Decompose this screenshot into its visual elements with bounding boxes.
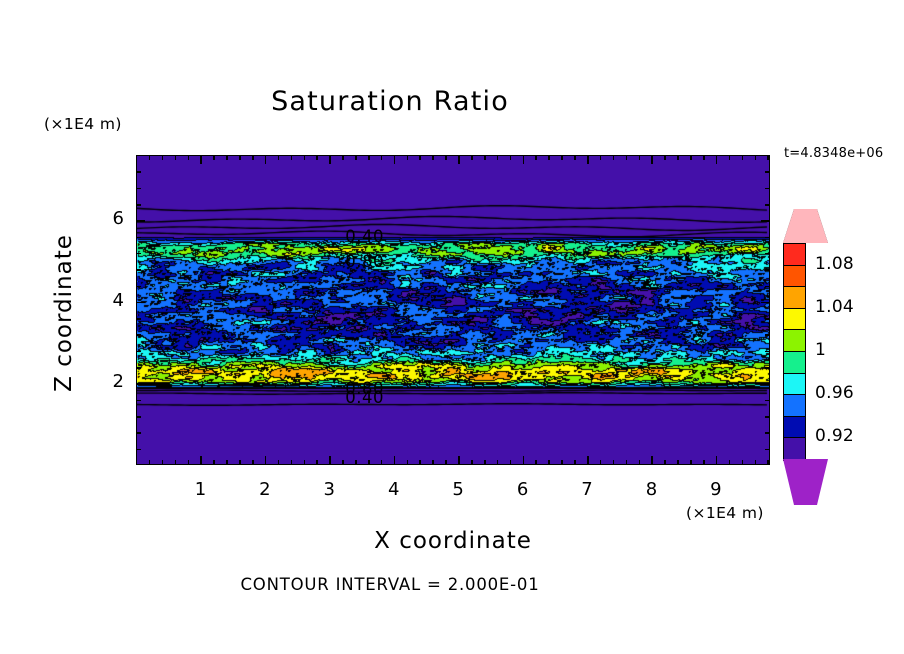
x-minor-tick (548, 460, 550, 465)
x-major-tick (458, 456, 460, 465)
x-minor-tick-top (316, 155, 318, 160)
y-minor-tick-right (765, 204, 770, 206)
x-minor-tick-top (626, 155, 628, 160)
x-minor-tick (664, 460, 666, 465)
colorbar-band[interactable] (783, 265, 806, 288)
x-minor-tick-top (278, 155, 280, 160)
x-minor-tick (484, 460, 486, 465)
x-minor-tick (729, 460, 731, 465)
y-minor-tick (136, 416, 141, 418)
x-minor-tick-top (407, 155, 409, 160)
y-tick-label: 4 (84, 290, 124, 311)
colorbar-band[interactable] (783, 286, 806, 309)
x-tick-label: 2 (240, 479, 290, 500)
y-minor-tick-right (765, 449, 770, 451)
x-minor-tick-top (613, 155, 615, 160)
y-minor-tick (136, 318, 141, 320)
x-minor-tick-top (368, 155, 370, 160)
x-tick-label: 5 (433, 479, 483, 500)
x-minor-tick-top (755, 155, 757, 160)
y-minor-tick-right (765, 416, 770, 418)
x-minor-tick-top (742, 155, 744, 160)
y-minor-tick (136, 237, 141, 239)
x-minor-tick (445, 460, 447, 465)
x-major-tick-top (651, 155, 653, 164)
y-minor-tick (136, 334, 141, 336)
x-minor-tick-top (677, 155, 679, 160)
x-minor-tick-top (419, 155, 421, 160)
x-minor-tick (162, 460, 164, 465)
x-minor-tick (149, 460, 151, 465)
colorbar-tick-label: 1.04 (815, 297, 854, 317)
x-major-tick (265, 456, 267, 465)
y-minor-tick-right (765, 188, 770, 190)
y-axis-title: Z coordinate (51, 218, 77, 408)
x-minor-tick (703, 460, 705, 465)
x-major-tick-top (587, 155, 589, 164)
x-minor-tick-top (510, 155, 512, 160)
x-minor-tick-top (471, 155, 473, 160)
y-minor-tick (136, 367, 141, 369)
x-minor-tick (239, 460, 241, 465)
x-minor-tick (291, 460, 293, 465)
x-minor-tick (742, 460, 744, 465)
x-minor-tick-top (175, 155, 177, 160)
x-minor-tick (355, 460, 357, 465)
page-title: Saturation Ratio (0, 86, 780, 117)
x-minor-tick (188, 460, 190, 465)
y-minor-tick (136, 351, 141, 353)
y-minor-tick-right (765, 171, 770, 173)
y-minor-tick-right (765, 351, 770, 353)
y-minor-tick (136, 286, 141, 288)
x-minor-tick-top (664, 155, 666, 160)
x-minor-tick (497, 460, 499, 465)
colorbar-arrow-top (783, 209, 828, 243)
x-minor-tick (613, 460, 615, 465)
x-major-tick-top (523, 155, 525, 164)
x-minor-tick (535, 460, 537, 465)
x-minor-tick-top (342, 155, 344, 160)
x-minor-tick-top (188, 155, 190, 160)
x-minor-tick-top (252, 155, 254, 160)
x-minor-tick-top (600, 155, 602, 160)
y-minor-tick (136, 449, 141, 451)
x-minor-tick (561, 460, 563, 465)
x-minor-tick-top (729, 155, 731, 160)
x-minor-tick-top (561, 155, 563, 160)
y-minor-tick-right (765, 318, 770, 320)
x-major-tick-top (329, 155, 331, 164)
x-minor-tick-top (574, 155, 576, 160)
x-minor-tick (677, 460, 679, 465)
y-minor-tick-right (765, 253, 770, 255)
x-minor-tick (381, 460, 383, 465)
colorbar-band[interactable] (783, 416, 806, 439)
x-minor-tick-top (304, 155, 306, 160)
x-major-tick (329, 456, 331, 465)
x-major-tick-top (394, 155, 396, 164)
x-tick-label: 9 (691, 479, 741, 500)
x-minor-tick-top (639, 155, 641, 160)
x-minor-tick (175, 460, 177, 465)
x-minor-tick-top (445, 155, 447, 160)
x-tick-label: 7 (562, 479, 612, 500)
x-major-tick-top (458, 155, 460, 164)
y-minor-tick (136, 204, 141, 206)
y-minor-tick (136, 171, 141, 173)
y-major-tick (136, 383, 145, 385)
y-major-tick-right (761, 220, 770, 222)
colorbar-band[interactable] (783, 394, 806, 417)
x-tick-label: 6 (498, 479, 548, 500)
colorbar-band[interactable] (783, 329, 806, 352)
colorbar-band[interactable] (783, 373, 806, 396)
x-minor-tick-top (162, 155, 164, 160)
x-minor-tick-top (355, 155, 357, 160)
y-minor-tick (136, 253, 141, 255)
x-minor-tick-top (484, 155, 486, 160)
y-major-tick (136, 302, 145, 304)
x-minor-tick (755, 460, 757, 465)
x-minor-tick-top (497, 155, 499, 160)
x-minor-tick (574, 460, 576, 465)
x-tick-label: 8 (626, 479, 676, 500)
x-minor-tick-top (535, 155, 537, 160)
x-minor-tick (600, 460, 602, 465)
x-minor-tick (419, 460, 421, 465)
x-minor-tick-top (548, 155, 550, 160)
y-tick-label: 2 (84, 371, 124, 392)
colorbar-tick-label: 0.92 (815, 426, 854, 446)
timestamp-label: t=4.8348e+06 (784, 146, 883, 161)
contour-label: 0.40 (345, 388, 384, 407)
figure-canvas: Saturation Ratio (×1E4 m) t=4.8348e+06 1… (0, 0, 904, 654)
x-minor-tick (626, 460, 628, 465)
x-minor-tick (213, 460, 215, 465)
x-minor-tick (432, 460, 434, 465)
plot-area[interactable] (136, 155, 770, 465)
x-minor-tick (278, 460, 280, 465)
y-minor-tick (136, 400, 141, 402)
x-major-tick (587, 456, 589, 465)
y-major-tick-right (761, 302, 770, 304)
x-minor-tick (471, 460, 473, 465)
colorbar-band[interactable] (783, 308, 806, 331)
y-minor-tick-right (765, 237, 770, 239)
contour-label: 0.40 (345, 227, 384, 246)
y-minor-tick-right (765, 432, 770, 434)
x-minor-tick-top (767, 155, 769, 160)
colorbar[interactable] (783, 243, 806, 459)
colorbar-tick-label: 1.08 (815, 254, 854, 274)
contour-interval-caption: CONTOUR INTERVAL = 2.000E-01 (0, 575, 780, 594)
y-minor-tick-right (765, 269, 770, 271)
x-major-tick (716, 456, 718, 465)
y-minor-tick-right (765, 400, 770, 402)
y-tick-label: 6 (84, 208, 124, 229)
y-minor-tick-right (765, 334, 770, 336)
x-tick-label: 3 (304, 479, 354, 500)
x-major-tick (523, 456, 525, 465)
x-minor-tick (510, 460, 512, 465)
x-major-tick-top (200, 155, 202, 164)
x-major-tick-top (716, 155, 718, 164)
x-minor-tick-top (291, 155, 293, 160)
y-minor-tick (136, 269, 141, 271)
colorbar-band[interactable] (783, 437, 806, 460)
x-axis-title: X coordinate (136, 528, 770, 554)
x-minor-tick-top (381, 155, 383, 160)
x-minor-tick (690, 460, 692, 465)
colorbar-tick-label: 1 (815, 340, 826, 360)
x-axis-unit-label: (×1E4 m) (686, 504, 764, 522)
colorbar-band[interactable] (783, 351, 806, 374)
x-minor-tick-top (239, 155, 241, 160)
y-minor-tick-right (765, 367, 770, 369)
y-minor-tick (136, 188, 141, 190)
x-major-tick (394, 456, 396, 465)
x-minor-tick-top (690, 155, 692, 160)
y-major-tick (136, 220, 145, 222)
x-minor-tick (316, 460, 318, 465)
x-minor-tick-top (703, 155, 705, 160)
x-minor-tick (368, 460, 370, 465)
x-major-tick (200, 456, 202, 465)
x-minor-tick-top (149, 155, 151, 160)
x-minor-tick-top (213, 155, 215, 160)
x-tick-label: 1 (175, 479, 225, 500)
x-minor-tick (767, 460, 769, 465)
x-tick-label: 4 (369, 479, 419, 500)
x-minor-tick (639, 460, 641, 465)
y-minor-tick (136, 432, 141, 434)
colorbar-arrow-bottom (783, 459, 828, 505)
y-major-tick-right (761, 383, 770, 385)
colorbar-tick-label: 0.96 (815, 383, 854, 403)
y-minor-tick-right (765, 286, 770, 288)
x-minor-tick (407, 460, 409, 465)
x-minor-tick-top (226, 155, 228, 160)
y-axis-unit-label: (×1E4 m) (44, 115, 122, 133)
x-minor-tick (342, 460, 344, 465)
x-major-tick (651, 456, 653, 465)
colorbar-band[interactable] (783, 243, 806, 266)
x-minor-tick-top (432, 155, 434, 160)
contour-label: 0.80 (345, 252, 384, 271)
x-minor-tick (252, 460, 254, 465)
contour-field (137, 156, 770, 465)
x-major-tick-top (265, 155, 267, 164)
x-minor-tick (304, 460, 306, 465)
x-minor-tick (226, 460, 228, 465)
